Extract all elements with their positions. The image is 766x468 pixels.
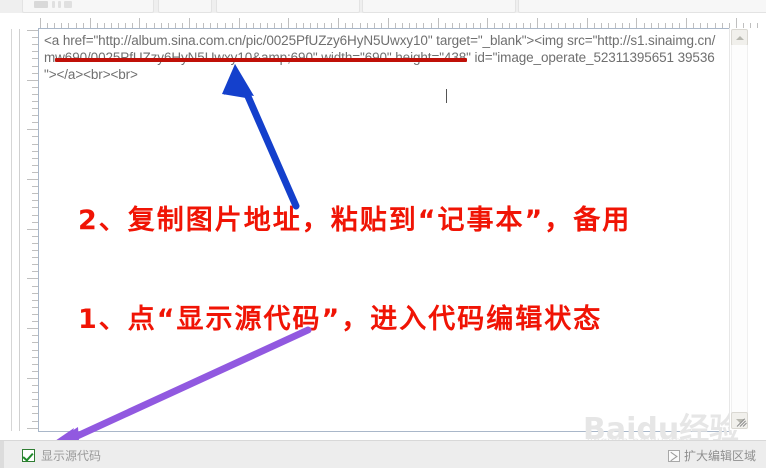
ruler-tick xyxy=(750,23,751,28)
bottom-bar-edge xyxy=(0,441,4,468)
show-source-toggle[interactable]: 显示源代码 xyxy=(22,447,101,464)
ruler-tick xyxy=(27,129,38,130)
ruler-tick xyxy=(736,18,737,28)
vertical-scrollbar[interactable] xyxy=(729,28,747,430)
ruler-tick xyxy=(636,18,637,28)
ruler-tick xyxy=(90,18,91,28)
scrollbar-track[interactable] xyxy=(731,45,748,413)
vertical-ruler xyxy=(20,27,38,431)
expand-edit-area-label: 扩大编辑区域 xyxy=(684,447,756,464)
ruler-tick xyxy=(438,18,439,28)
toolbar-group-4[interactable] xyxy=(362,0,516,13)
annotation-step-1: 1、点“显示源代码”，进入代码编辑状态 xyxy=(78,297,602,336)
ruler-tick xyxy=(537,18,538,28)
ruler-tick xyxy=(338,18,339,28)
ruler-tick xyxy=(189,18,190,28)
ruler-tick xyxy=(27,30,38,31)
ruler-tick xyxy=(27,328,38,329)
toolbar-icon-stub xyxy=(52,1,55,8)
ruler-tick xyxy=(587,18,588,28)
ruler-tick xyxy=(139,18,140,28)
page-rail xyxy=(11,13,12,431)
ruler-tick xyxy=(388,18,389,28)
horizontal-ruler xyxy=(0,13,766,29)
resize-grip-icon[interactable] xyxy=(735,415,749,429)
toolbar-group-5[interactable] xyxy=(518,0,766,13)
ruler-tick xyxy=(686,18,687,28)
ruler-tick xyxy=(40,18,41,28)
chevron-up-icon xyxy=(736,36,744,40)
toolbar-group-2[interactable] xyxy=(158,0,212,13)
toolbar-icon-stub xyxy=(64,1,72,8)
ruler-tick xyxy=(757,23,758,28)
text-caret xyxy=(446,89,447,103)
ruler-tick xyxy=(487,18,488,28)
url-underline-highlight xyxy=(55,58,467,62)
ruler-tick xyxy=(27,428,38,429)
show-source-checkbox[interactable] xyxy=(22,449,35,462)
annotation-step-2: 2、复制图片地址，粘贴到“记事本”，备用 xyxy=(78,198,631,237)
show-source-label: 显示源代码 xyxy=(41,447,101,464)
editor-bottom-bar: 显示源代码 扩大编辑区域 xyxy=(0,440,766,468)
toolbar-icon-stub xyxy=(58,1,61,8)
ruler-tick xyxy=(27,80,38,81)
scroll-up-button[interactable] xyxy=(731,29,748,46)
toolbar-group-3[interactable] xyxy=(216,0,360,13)
ruler-tick xyxy=(27,278,38,279)
editor-toolbar xyxy=(0,0,766,14)
expand-area-icon xyxy=(668,450,680,462)
ruler-tick xyxy=(27,179,38,180)
ruler-tick xyxy=(27,229,38,230)
toolbar-icon-stub xyxy=(34,1,48,8)
expand-edit-area-button[interactable]: 扩大编辑区域 xyxy=(668,447,756,464)
app-root: <a href="http://album.sina.com.cn/pic/00… xyxy=(0,0,766,468)
ruler-tick xyxy=(288,18,289,28)
ruler-tick xyxy=(27,378,38,379)
ruler-tick xyxy=(239,18,240,28)
